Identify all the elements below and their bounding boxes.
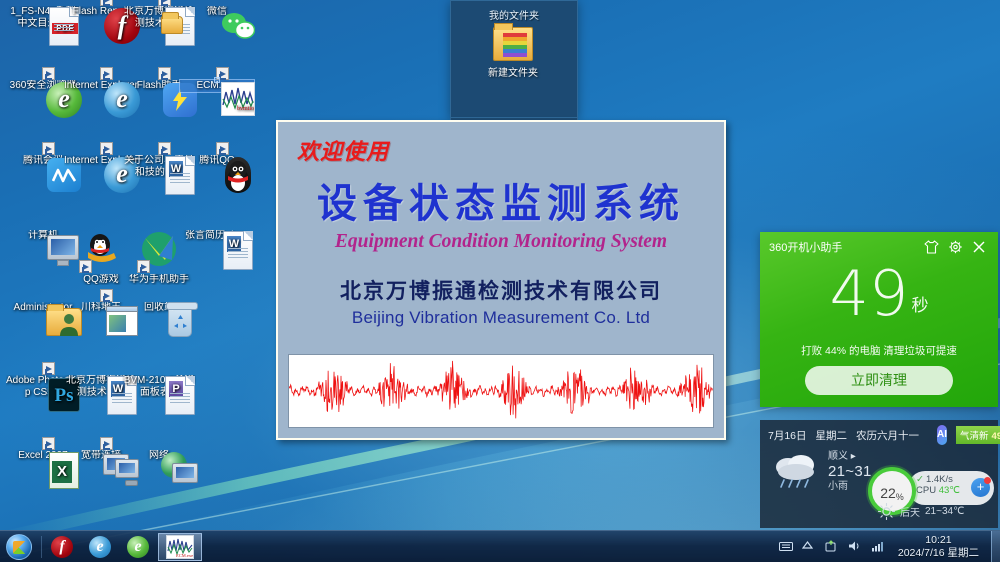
desktop-icon-resume-docx[interactable]: W 张言简历.docx [180, 230, 254, 242]
network-speed: 1.4K/s [926, 474, 953, 485]
weather-date: 7月16日 [768, 428, 807, 443]
penguin-glyph [223, 159, 253, 193]
svg-text:bvmtion: bvmtion [237, 106, 254, 112]
recycle-arrows-icon [173, 314, 188, 329]
system-title-english: Equipment Condition Monitoring System [335, 231, 667, 253]
browser-360-icon: e [127, 536, 149, 558]
show-desktop-button[interactable] [991, 531, 1000, 562]
vibration-waveform-panel [288, 354, 714, 428]
air-quality-value: 49 [992, 431, 1000, 442]
air-quality-chip[interactable]: 气清新49 [956, 426, 1000, 444]
sun-icon [878, 503, 895, 520]
weather-widget[interactable]: 7月16日 星期二 农历六月十一 AI 气清新49 [760, 420, 998, 528]
seconds-unit: 秒 [911, 296, 928, 316]
taskbar[interactable]: f e e ECM.exe [0, 530, 1000, 562]
desktop-icon-tencent-qq[interactable]: 腾讯QQ [180, 155, 254, 167]
taskbar-button-flash-repair[interactable]: f [44, 533, 80, 561]
show-hidden-icons-icon[interactable] [802, 540, 816, 554]
clean-now-button[interactable]: 立即清理 [805, 366, 953, 395]
svg-text:ECM.exe: ECM.exe [176, 553, 193, 558]
internet-explorer-icon: e [89, 536, 111, 558]
network-signal-icon[interactable] [871, 540, 885, 554]
cpu-label: CPU [916, 485, 936, 496]
clock-time: 10:21 [898, 534, 979, 547]
splash-window[interactable]: 欢迎使用 设备状态监测系统 Equipment Condition Monito… [276, 120, 726, 440]
lightning-bolt-icon [172, 89, 188, 111]
vibration-waveform [289, 355, 713, 427]
system-title-chinese: 设备状态监测系统 [317, 171, 685, 229]
cpu-usage-unit: % [896, 492, 904, 502]
widget-header: 360开机小助手 [760, 232, 998, 255]
weather-weekday: 星期二 [816, 428, 848, 443]
folder-window-title: 我的文件夹 [451, 1, 577, 22]
weather-condition: 小雨 [828, 479, 872, 494]
wechat-glyph [221, 12, 255, 40]
system-tray[interactable]: 10:21 2024/7/16 星期二 [779, 534, 989, 560]
safely-remove-hardware-icon[interactable] [825, 540, 839, 554]
cpu-temp: 43℃ [939, 485, 960, 496]
company-name-english: Beijing Vibration Measurement Co. Ltd [352, 308, 650, 328]
weather-date-row: 7月16日 星期二 农历六月十一 AI 气清新49 [760, 420, 998, 445]
meeting-glyph [52, 167, 76, 183]
taskbar-button-360-browser[interactable]: e [120, 533, 156, 561]
gear-icon[interactable] [948, 240, 965, 255]
forecast-temps: 21~34℃ [925, 506, 964, 517]
close-icon[interactable] [972, 240, 989, 255]
chevron-right-icon: ▸ [851, 451, 856, 462]
system-stats-pill[interactable]: ✓1.4K/s CPU 43℃ + [908, 471, 994, 505]
volume-icon[interactable] [848, 540, 862, 554]
windows-logo-icon [6, 534, 32, 560]
desktop-icon-wechat[interactable]: 微信 [180, 6, 254, 18]
taskbar-button-internet-explorer[interactable]: e [82, 533, 118, 561]
shirt-icon[interactable] [924, 240, 941, 255]
check-icon: ✓ [916, 474, 924, 485]
boot-seconds: 49 [830, 257, 909, 330]
folder-item-label: 新建文件夹 [488, 68, 538, 79]
welcome-text: 欢迎使用 [297, 134, 389, 166]
user-avatar-glyph [58, 312, 80, 336]
clock[interactable]: 10:21 2024/7/16 星期二 [894, 534, 983, 560]
weather-forecast-row: 后天 21~34℃ [878, 503, 964, 520]
qq-games-icon [80, 262, 122, 273]
clock-date: 2024/7/16 星期二 [898, 547, 979, 560]
desktop[interactable]: PDF 1_FS-N40系列中文目录.... f Flash Repair 北京… [0, 0, 1000, 562]
folder-window-item[interactable]: 新建文件夹 [465, 27, 561, 79]
forecast-label: 后天 [900, 504, 920, 519]
keyboard-icon[interactable] [779, 540, 793, 554]
weather-body: 顺义 ▸ 21~31 小雨 ✓1.4K/s CPU 43℃ + 22% [760, 445, 998, 495]
boot-time-value: 49秒 [760, 263, 998, 337]
boot-rank-subtext: 打败 44% 的电脑 清理垃圾可提速 [760, 343, 998, 358]
360-boot-assistant-widget[interactable]: 360开机小助手 [760, 232, 998, 407]
waveform-glyph: ECM.exe [167, 536, 193, 558]
folder-icon [493, 27, 533, 61]
desktop-icon-recycle-bin[interactable]: 回收站 [122, 302, 196, 314]
add-button[interactable]: + [971, 478, 990, 497]
cpu-usage-value: 22 [880, 485, 896, 501]
rain-cloud-icon [770, 449, 822, 495]
taskbar-button-ecm-app[interactable]: ECM.exe [158, 533, 202, 561]
folder-window[interactable]: 我的文件夹 新建文件夹 [450, 0, 578, 118]
ecm-app-icon: ECM.exe [166, 535, 194, 559]
huawei-assistant-icon [138, 262, 180, 273]
widget-title: 360开机小助手 [769, 239, 842, 255]
desktop-icon-bvm-210-9-doc[interactable]: P BVM-210-9参通面板表... [122, 375, 196, 398]
desktop-icon-label: 华为手机助手 [122, 274, 196, 286]
weather-location[interactable]: 顺义 ▸ [828, 449, 872, 464]
start-button[interactable] [2, 533, 36, 561]
weather-lunar-date: 农历六月十一 [856, 428, 919, 443]
desktop-icon-network[interactable]: 网络 [122, 450, 196, 462]
weather-temp-range: 21~31 [828, 464, 872, 479]
desktop-icon-ecm-exe[interactable]: bvmtion ECM.exe [180, 80, 254, 92]
air-quality-label: 气清新 [960, 431, 989, 442]
taskbar-separator [41, 536, 42, 558]
flash-icon: f [51, 536, 73, 558]
company-name-chinese: 北京万博振通检测技术有限公司 [340, 275, 662, 305]
ai-button[interactable]: AI [937, 425, 947, 445]
waveform-glyph: bvmtion [222, 83, 254, 115]
weather-location-column: 顺义 ▸ 21~31 小雨 [828, 449, 872, 495]
